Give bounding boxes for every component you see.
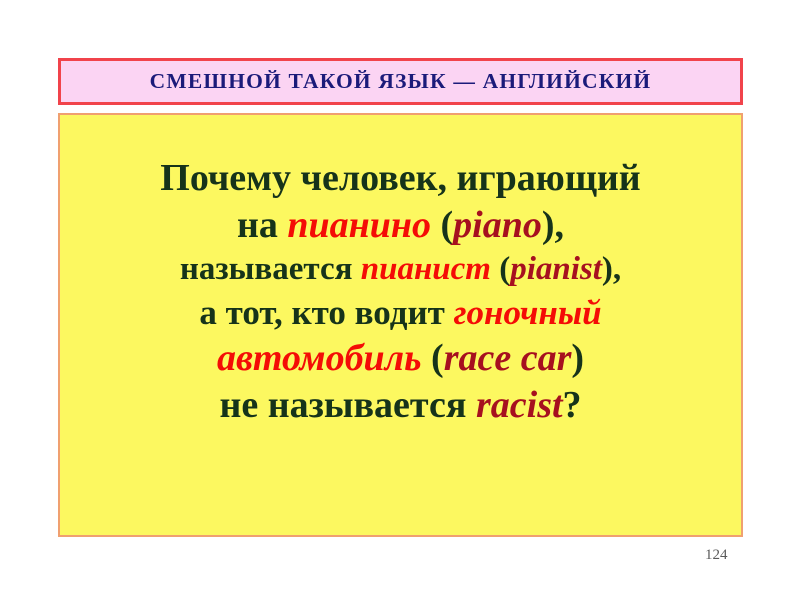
body-text-english: race car [444,337,572,379]
body-text-plain: на [237,204,287,246]
slide-body-text: Почему человек, играющийна пианино (pian… [60,159,741,424]
page-number: 124 [705,548,728,563]
body-text-english: pianist [510,251,602,287]
body-text-paren: ( [491,251,510,287]
slide-body-box: Почему человек, играющийна пианино (pian… [58,113,743,537]
body-text-english: piano [453,204,542,246]
body-text-plain: Почему человек, играющий [160,157,640,199]
body-text-paren: ), [602,251,621,287]
body-text-paren: ( [422,337,444,379]
body-text-russian: пианино [287,204,431,246]
body-line: на пианино (piano), [60,206,741,244]
body-line: не называется racist? [60,386,741,424]
body-text-paren: ? [563,384,582,426]
slide: СМЕШНОЙ ТАКОЙ ЯЗЫК — АНГЛИЙСКИЙ Почему ч… [0,0,800,600]
body-text-russian: автомобиль [217,337,422,379]
body-line: а тот, кто водит гоночный [60,295,741,330]
body-line: называется пианист (pianist), [60,253,741,286]
body-text-plain: не называется [219,384,476,426]
page-title: СМЕШНОЙ ТАКОЙ ЯЗЫК — АНГЛИЙСКИЙ [150,71,652,93]
body-text-plain: называется [180,251,361,287]
body-text-paren: ), [542,204,564,246]
body-text-russian: гоночный [454,293,602,332]
body-text-english: racist [476,384,563,426]
body-text-paren: ( [431,204,453,246]
body-text-paren: ) [571,337,584,379]
body-text-plain: а тот, кто водит [199,293,453,332]
slide-title-box: СМЕШНОЙ ТАКОЙ ЯЗЫК — АНГЛИЙСКИЙ [58,58,743,105]
body-line: Почему человек, играющий [60,159,741,197]
body-line: автомобиль (race car) [60,339,741,377]
body-text-russian: пианист [361,251,491,287]
